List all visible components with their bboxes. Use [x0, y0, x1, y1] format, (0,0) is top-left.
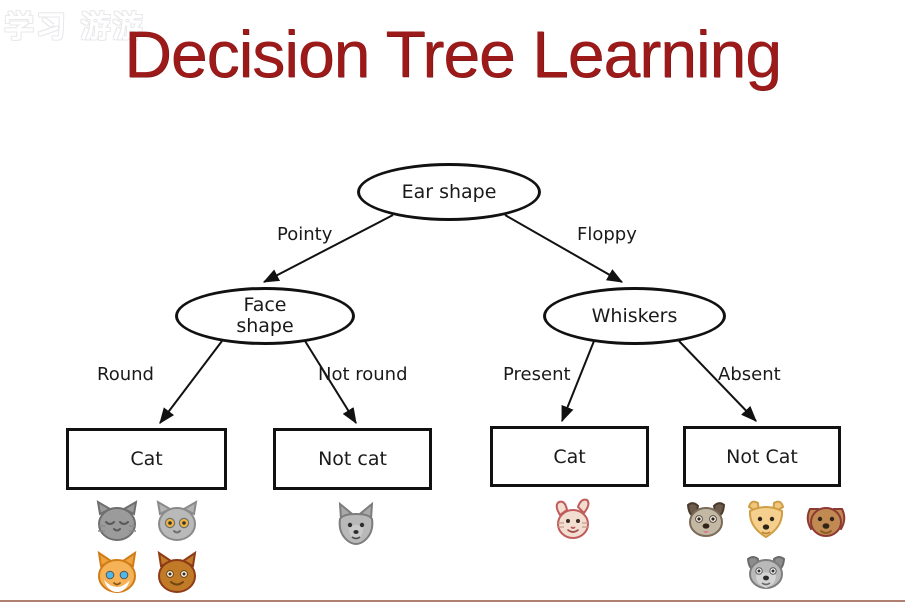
edge-label-not-round: Not round: [318, 364, 408, 385]
edge-label-present-text: Present: [503, 364, 571, 385]
wolf-face-icon: [330, 500, 382, 548]
dog-face-pug-icon: [680, 494, 732, 542]
node-ear-shape-label: Ear shape: [402, 182, 497, 203]
page-title: Decision Tree Learning: [0, 16, 905, 92]
dog-face-golden-icon: [740, 494, 792, 542]
edge-face-to-cat: [160, 341, 222, 423]
node-face-shape[interactable]: Face shape: [175, 287, 355, 345]
dog-face-gray-icon: [740, 546, 792, 594]
edge-label-pointy: Pointy: [277, 224, 332, 245]
leaf-node-cat-left-label: Cat: [130, 448, 162, 470]
cat-face-orange-icon: [91, 549, 143, 597]
bottom-divider: [0, 600, 905, 602]
cat-face-gray-icon: [91, 497, 143, 545]
slide-canvas: 学习 游游 Decision Tree Learning Ear shape P…: [0, 0, 905, 605]
edge-label-round-text: Round: [97, 364, 154, 385]
edge-label-round: Round: [97, 364, 154, 385]
edge-label-absent: Absent: [718, 364, 781, 385]
edge-label-floppy: Floppy: [577, 224, 637, 245]
leaf-node-cat-left[interactable]: Cat: [66, 428, 227, 490]
leaf-node-not-cat-left-label: Not cat: [318, 448, 387, 470]
examples-cat-left: [62, 497, 232, 602]
edge-label-present: Present: [503, 364, 571, 385]
edge-label-not-round-text: Not round: [318, 364, 408, 385]
node-whiskers[interactable]: Whiskers: [543, 287, 726, 345]
cat-face-brown-icon: [151, 549, 203, 597]
dog-face-brown-icon: [800, 494, 852, 542]
leaf-node-not-cat-left[interactable]: Not cat: [273, 428, 432, 490]
edge-label-absent-text: Absent: [718, 364, 781, 385]
edge-label-pointy-text: Pointy: [277, 224, 332, 245]
leaf-node-not-cat-right[interactable]: Not Cat: [683, 426, 841, 487]
examples-cat-right: [543, 496, 603, 546]
leaf-node-not-cat-right-label: Not Cat: [726, 446, 798, 468]
cat-face-lightgray-icon: [151, 497, 203, 545]
examples-not-cat-left: [326, 500, 386, 550]
node-whiskers-label: Whiskers: [592, 306, 678, 327]
node-ear-shape[interactable]: Ear shape: [357, 163, 541, 221]
leaf-node-cat-right-label: Cat: [553, 446, 585, 468]
node-face-shape-label: Face shape: [220, 295, 310, 336]
leaf-node-cat-right[interactable]: Cat: [490, 426, 649, 487]
edge-label-floppy-text: Floppy: [577, 224, 637, 245]
examples-not-cat-right: [680, 494, 852, 602]
cat-face-pink-icon: [547, 496, 599, 544]
